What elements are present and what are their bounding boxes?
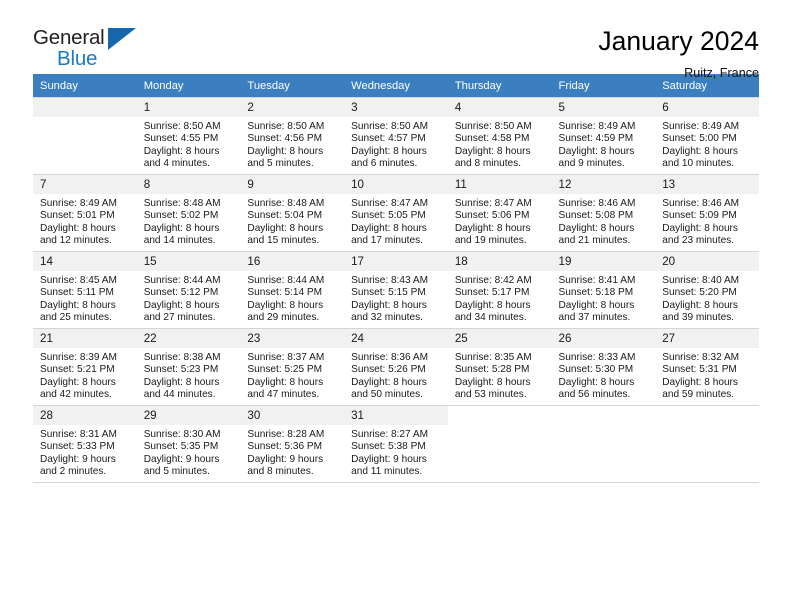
day-detail-line: Sunset: 5:15 PM <box>351 287 444 299</box>
day-detail-line: Daylight: 8 hours <box>351 223 444 235</box>
day-detail-line: Sunrise: 8:41 AM <box>559 275 652 287</box>
calendar-empty-cell <box>448 406 552 483</box>
day-number: 21 <box>33 329 137 348</box>
day-cell-inner: 10Sunrise: 8:47 AMSunset: 5:05 PMDayligh… <box>344 175 448 251</box>
day-details: Sunrise: 8:40 AMSunset: 5:20 PMDaylight:… <box>655 271 759 324</box>
day-cell-inner: 9Sunrise: 8:48 AMSunset: 5:04 PMDaylight… <box>240 175 344 251</box>
day-number: 23 <box>240 329 344 348</box>
day-cell-inner: 26Sunrise: 8:33 AMSunset: 5:30 PMDayligh… <box>552 329 656 405</box>
day-detail-line: Sunrise: 8:37 AM <box>247 352 340 364</box>
day-detail-line: Sunrise: 8:36 AM <box>351 352 444 364</box>
day-detail-line: and 8 minutes. <box>455 158 548 170</box>
day-detail-line: and 47 minutes. <box>247 389 340 401</box>
day-detail-line: Sunset: 4:55 PM <box>144 133 237 145</box>
title-block: January 2024 Ruitz, France <box>598 26 759 80</box>
day-cell-inner: 11Sunrise: 8:47 AMSunset: 5:06 PMDayligh… <box>448 175 552 251</box>
day-detail-line: and 2 minutes. <box>40 466 133 478</box>
calendar-day-cell[interactable]: 10Sunrise: 8:47 AMSunset: 5:05 PMDayligh… <box>344 175 448 252</box>
day-detail-line: Sunset: 5:18 PM <box>559 287 652 299</box>
day-number: 16 <box>240 252 344 271</box>
day-detail-line: Sunrise: 8:33 AM <box>559 352 652 364</box>
day-detail-line: Sunrise: 8:50 AM <box>455 121 548 133</box>
day-detail-line: Daylight: 8 hours <box>247 300 340 312</box>
day-number: 27 <box>655 329 759 348</box>
calendar-day-cell[interactable]: 18Sunrise: 8:42 AMSunset: 5:17 PMDayligh… <box>448 252 552 329</box>
day-details: Sunrise: 8:48 AMSunset: 5:02 PMDaylight:… <box>137 194 241 247</box>
day-number: 17 <box>344 252 448 271</box>
day-cell-inner: 23Sunrise: 8:37 AMSunset: 5:25 PMDayligh… <box>240 329 344 405</box>
day-detail-line: Daylight: 8 hours <box>351 377 444 389</box>
day-details: Sunrise: 8:30 AMSunset: 5:35 PMDaylight:… <box>137 425 241 478</box>
day-detail-line: and 44 minutes. <box>144 389 237 401</box>
day-detail-line: Daylight: 9 hours <box>351 454 444 466</box>
day-detail-line: Daylight: 8 hours <box>40 223 133 235</box>
day-number <box>33 98 137 117</box>
calendar-day-cell[interactable]: 12Sunrise: 8:46 AMSunset: 5:08 PMDayligh… <box>552 175 656 252</box>
weekday-header-wednesday: Wednesday <box>344 74 448 98</box>
day-details: Sunrise: 8:32 AMSunset: 5:31 PMDaylight:… <box>655 348 759 401</box>
day-number: 3 <box>344 98 448 117</box>
day-detail-line: and 8 minutes. <box>247 466 340 478</box>
calendar-week-row: 21Sunrise: 8:39 AMSunset: 5:21 PMDayligh… <box>33 329 759 406</box>
day-number: 31 <box>344 406 448 425</box>
day-detail-line: and 4 minutes. <box>144 158 237 170</box>
day-detail-line: Sunset: 5:00 PM <box>662 133 755 145</box>
day-detail-line: Sunset: 5:33 PM <box>40 441 133 453</box>
day-details: Sunrise: 8:27 AMSunset: 5:38 PMDaylight:… <box>344 425 448 478</box>
day-detail-line: Sunrise: 8:46 AM <box>662 198 755 210</box>
day-detail-line: Daylight: 8 hours <box>455 377 548 389</box>
day-detail-line: Daylight: 8 hours <box>455 223 548 235</box>
day-detail-line: Sunset: 5:11 PM <box>40 287 133 299</box>
day-detail-line: Daylight: 8 hours <box>559 377 652 389</box>
day-detail-line: and 5 minutes. <box>247 158 340 170</box>
day-details: Sunrise: 8:45 AMSunset: 5:11 PMDaylight:… <box>33 271 137 324</box>
day-detail-line: Sunset: 5:17 PM <box>455 287 548 299</box>
day-detail-line: Daylight: 8 hours <box>559 146 652 158</box>
day-detail-line: and 25 minutes. <box>40 312 133 324</box>
day-detail-line: Daylight: 8 hours <box>144 377 237 389</box>
day-detail-line: Sunset: 5:01 PM <box>40 210 133 222</box>
day-details: Sunrise: 8:44 AMSunset: 5:12 PMDaylight:… <box>137 271 241 324</box>
day-cell-inner: 5Sunrise: 8:49 AMSunset: 4:59 PMDaylight… <box>552 98 656 174</box>
day-detail-line: Sunrise: 8:32 AM <box>662 352 755 364</box>
day-cell-inner: 31Sunrise: 8:27 AMSunset: 5:38 PMDayligh… <box>344 406 448 482</box>
day-detail-line: and 37 minutes. <box>559 312 652 324</box>
day-details: Sunrise: 8:46 AMSunset: 5:08 PMDaylight:… <box>552 194 656 247</box>
day-detail-line: Daylight: 8 hours <box>351 300 444 312</box>
calendar-week-row: 28Sunrise: 8:31 AMSunset: 5:33 PMDayligh… <box>33 406 759 483</box>
day-cell-inner: 16Sunrise: 8:44 AMSunset: 5:14 PMDayligh… <box>240 252 344 328</box>
day-details: Sunrise: 8:41 AMSunset: 5:18 PMDaylight:… <box>552 271 656 324</box>
day-detail-line: Sunrise: 8:43 AM <box>351 275 444 287</box>
calendar-week-row: 1Sunrise: 8:50 AMSunset: 4:55 PMDaylight… <box>33 98 759 175</box>
day-detail-line: Sunset: 5:25 PM <box>247 364 340 376</box>
day-detail-line: Daylight: 8 hours <box>40 300 133 312</box>
day-detail-line: Sunrise: 8:38 AM <box>144 352 237 364</box>
calendar-day-cell[interactable]: 31Sunrise: 8:27 AMSunset: 5:38 PMDayligh… <box>344 406 448 483</box>
calendar-week-row: 14Sunrise: 8:45 AMSunset: 5:11 PMDayligh… <box>33 252 759 329</box>
day-detail-line: Sunset: 5:36 PM <box>247 441 340 453</box>
day-cell-inner: 7Sunrise: 8:49 AMSunset: 5:01 PMDaylight… <box>33 175 137 251</box>
day-detail-line: Daylight: 8 hours <box>40 377 133 389</box>
day-cell-inner: 20Sunrise: 8:40 AMSunset: 5:20 PMDayligh… <box>655 252 759 328</box>
day-number: 25 <box>448 329 552 348</box>
day-detail-line: Daylight: 8 hours <box>559 300 652 312</box>
calendar-day-cell[interactable]: 1Sunrise: 8:50 AMSunset: 4:55 PMDaylight… <box>137 98 241 175</box>
day-detail-line: Daylight: 8 hours <box>144 300 237 312</box>
day-details: Sunrise: 8:50 AMSunset: 4:56 PMDaylight:… <box>240 117 344 170</box>
day-cell-inner: 29Sunrise: 8:30 AMSunset: 5:35 PMDayligh… <box>137 406 241 482</box>
day-cell-inner <box>33 98 137 174</box>
day-detail-line: Sunrise: 8:46 AM <box>559 198 652 210</box>
calendar-day-cell[interactable]: 6Sunrise: 8:49 AMSunset: 5:00 PMDaylight… <box>655 98 759 175</box>
day-detail-line: Sunset: 5:31 PM <box>662 364 755 376</box>
day-details: Sunrise: 8:49 AMSunset: 4:59 PMDaylight:… <box>552 117 656 170</box>
day-details: Sunrise: 8:28 AMSunset: 5:36 PMDaylight:… <box>240 425 344 478</box>
day-detail-line: and 39 minutes. <box>662 312 755 324</box>
day-detail-line: Sunrise: 8:48 AM <box>247 198 340 210</box>
day-detail-line: Sunrise: 8:28 AM <box>247 429 340 441</box>
calendar-day-cell[interactable]: 3Sunrise: 8:50 AMSunset: 4:57 PMDaylight… <box>344 98 448 175</box>
day-number: 13 <box>655 175 759 194</box>
day-number: 4 <box>448 98 552 117</box>
day-detail-line: Daylight: 8 hours <box>662 223 755 235</box>
day-cell-inner: 28Sunrise: 8:31 AMSunset: 5:33 PMDayligh… <box>33 406 137 482</box>
calendar-day-cell[interactable]: 26Sunrise: 8:33 AMSunset: 5:30 PMDayligh… <box>552 329 656 406</box>
day-detail-line: and 6 minutes. <box>351 158 444 170</box>
day-details: Sunrise: 8:47 AMSunset: 5:05 PMDaylight:… <box>344 194 448 247</box>
day-detail-line: Sunset: 4:58 PM <box>455 133 548 145</box>
calendar-day-cell[interactable]: 22Sunrise: 8:38 AMSunset: 5:23 PMDayligh… <box>137 329 241 406</box>
day-detail-line: Sunrise: 8:47 AM <box>455 198 548 210</box>
day-detail-line: Daylight: 8 hours <box>351 146 444 158</box>
day-details: Sunrise: 8:50 AMSunset: 4:55 PMDaylight:… <box>137 117 241 170</box>
day-cell-inner: 2Sunrise: 8:50 AMSunset: 4:56 PMDaylight… <box>240 98 344 174</box>
day-detail-line: Daylight: 8 hours <box>247 146 340 158</box>
day-details: Sunrise: 8:49 AMSunset: 5:01 PMDaylight:… <box>33 194 137 247</box>
day-detail-line: Sunset: 5:02 PM <box>144 210 237 222</box>
day-detail-line: and 56 minutes. <box>559 389 652 401</box>
day-detail-line: and 53 minutes. <box>455 389 548 401</box>
day-detail-line: Sunrise: 8:49 AM <box>662 121 755 133</box>
day-number: 22 <box>137 329 241 348</box>
day-detail-line: Daylight: 8 hours <box>247 377 340 389</box>
day-number: 19 <box>552 252 656 271</box>
day-detail-line: and 21 minutes. <box>559 235 652 247</box>
day-details: Sunrise: 8:44 AMSunset: 5:14 PMDaylight:… <box>240 271 344 324</box>
day-detail-line: Sunrise: 8:35 AM <box>455 352 548 364</box>
day-detail-line: Sunset: 5:09 PM <box>662 210 755 222</box>
day-cell-inner: 13Sunrise: 8:46 AMSunset: 5:09 PMDayligh… <box>655 175 759 251</box>
day-details: Sunrise: 8:49 AMSunset: 5:00 PMDaylight:… <box>655 117 759 170</box>
day-details: Sunrise: 8:35 AMSunset: 5:28 PMDaylight:… <box>448 348 552 401</box>
calendar-day-cell[interactable]: 27Sunrise: 8:32 AMSunset: 5:31 PMDayligh… <box>655 329 759 406</box>
calendar-day-cell[interactable]: 15Sunrise: 8:44 AMSunset: 5:12 PMDayligh… <box>137 252 241 329</box>
day-detail-line: and 9 minutes. <box>559 158 652 170</box>
calendar-day-cell[interactable]: 30Sunrise: 8:28 AMSunset: 5:36 PMDayligh… <box>240 406 344 483</box>
calendar-day-cell[interactable]: 14Sunrise: 8:45 AMSunset: 5:11 PMDayligh… <box>33 252 137 329</box>
calendar-empty-cell <box>655 406 759 483</box>
day-cell-inner: 1Sunrise: 8:50 AMSunset: 4:55 PMDaylight… <box>137 98 241 174</box>
calendar-day-cell[interactable]: 9Sunrise: 8:48 AMSunset: 5:04 PMDaylight… <box>240 175 344 252</box>
calendar-day-cell[interactable]: 11Sunrise: 8:47 AMSunset: 5:06 PMDayligh… <box>448 175 552 252</box>
day-detail-line: and 27 minutes. <box>144 312 237 324</box>
day-detail-line: Daylight: 9 hours <box>247 454 340 466</box>
day-detail-line: Daylight: 8 hours <box>662 300 755 312</box>
day-cell-inner <box>448 406 552 482</box>
day-detail-line: Sunrise: 8:50 AM <box>144 121 237 133</box>
day-detail-line: and 11 minutes. <box>351 466 444 478</box>
day-detail-line: and 5 minutes. <box>144 466 237 478</box>
day-detail-line: Sunset: 5:21 PM <box>40 364 133 376</box>
day-number: 9 <box>240 175 344 194</box>
day-number: 14 <box>33 252 137 271</box>
day-detail-line: and 15 minutes. <box>247 235 340 247</box>
day-number: 7 <box>33 175 137 194</box>
calendar-day-cell[interactable]: 29Sunrise: 8:30 AMSunset: 5:35 PMDayligh… <box>137 406 241 483</box>
calendar-day-cell[interactable]: 4Sunrise: 8:50 AMSunset: 4:58 PMDaylight… <box>448 98 552 175</box>
day-detail-line: Sunset: 5:30 PM <box>559 364 652 376</box>
day-detail-line: Daylight: 8 hours <box>455 146 548 158</box>
day-cell-inner: 8Sunrise: 8:48 AMSunset: 5:02 PMDaylight… <box>137 175 241 251</box>
logo-text-blue: Blue <box>57 47 97 71</box>
day-detail-line: Sunrise: 8:47 AM <box>351 198 444 210</box>
day-number <box>448 406 552 425</box>
day-details: Sunrise: 8:31 AMSunset: 5:33 PMDaylight:… <box>33 425 137 478</box>
calendar-day-cell[interactable]: 28Sunrise: 8:31 AMSunset: 5:33 PMDayligh… <box>33 406 137 483</box>
day-number: 18 <box>448 252 552 271</box>
calendar-day-cell[interactable]: 20Sunrise: 8:40 AMSunset: 5:20 PMDayligh… <box>655 252 759 329</box>
day-number: 11 <box>448 175 552 194</box>
day-cell-inner: 17Sunrise: 8:43 AMSunset: 5:15 PMDayligh… <box>344 252 448 328</box>
calendar-empty-cell <box>33 98 137 175</box>
day-cell-inner: 14Sunrise: 8:45 AMSunset: 5:11 PMDayligh… <box>33 252 137 328</box>
day-detail-line: Sunrise: 8:44 AM <box>144 275 237 287</box>
calendar-week-row: 7Sunrise: 8:49 AMSunset: 5:01 PMDaylight… <box>33 175 759 252</box>
day-detail-line: and 12 minutes. <box>40 235 133 247</box>
day-cell-inner: 15Sunrise: 8:44 AMSunset: 5:12 PMDayligh… <box>137 252 241 328</box>
weekday-header-monday: Monday <box>137 74 241 98</box>
weekday-header-sunday: Sunday <box>33 74 137 98</box>
page-header: General Blue January 2024 Ruitz, France <box>33 0 759 72</box>
day-detail-line: Sunrise: 8:44 AM <box>247 275 340 287</box>
weekday-header-thursday: Thursday <box>448 74 552 98</box>
day-number: 15 <box>137 252 241 271</box>
day-cell-inner: 6Sunrise: 8:49 AMSunset: 5:00 PMDaylight… <box>655 98 759 174</box>
day-detail-line: and 34 minutes. <box>455 312 548 324</box>
day-cell-inner: 21Sunrise: 8:39 AMSunset: 5:21 PMDayligh… <box>33 329 137 405</box>
day-detail-line: Sunset: 4:59 PM <box>559 133 652 145</box>
day-cell-inner: 24Sunrise: 8:36 AMSunset: 5:26 PMDayligh… <box>344 329 448 405</box>
day-details: Sunrise: 8:46 AMSunset: 5:09 PMDaylight:… <box>655 194 759 247</box>
day-details: Sunrise: 8:38 AMSunset: 5:23 PMDaylight:… <box>137 348 241 401</box>
day-number <box>552 406 656 425</box>
day-detail-line: and 10 minutes. <box>662 158 755 170</box>
day-detail-line: Daylight: 8 hours <box>662 377 755 389</box>
day-number: 5 <box>552 98 656 117</box>
day-detail-line: Sunrise: 8:45 AM <box>40 275 133 287</box>
day-cell-inner <box>552 406 656 482</box>
day-detail-line: Sunrise: 8:49 AM <box>40 198 133 210</box>
day-number: 8 <box>137 175 241 194</box>
day-detail-line: and 29 minutes. <box>247 312 340 324</box>
day-detail-line: Sunrise: 8:42 AM <box>455 275 548 287</box>
day-detail-line: Daylight: 8 hours <box>144 223 237 235</box>
day-detail-line: Daylight: 9 hours <box>144 454 237 466</box>
day-cell-inner: 19Sunrise: 8:41 AMSunset: 5:18 PMDayligh… <box>552 252 656 328</box>
day-detail-line: Sunset: 5:38 PM <box>351 441 444 453</box>
day-detail-line: Sunset: 5:28 PM <box>455 364 548 376</box>
day-details: Sunrise: 8:48 AMSunset: 5:04 PMDaylight:… <box>240 194 344 247</box>
calendar-day-cell[interactable]: 23Sunrise: 8:37 AMSunset: 5:25 PMDayligh… <box>240 329 344 406</box>
day-detail-line: Sunrise: 8:50 AM <box>351 121 444 133</box>
day-number: 20 <box>655 252 759 271</box>
day-detail-line: and 42 minutes. <box>40 389 133 401</box>
day-number: 28 <box>33 406 137 425</box>
day-cell-inner: 30Sunrise: 8:28 AMSunset: 5:36 PMDayligh… <box>240 406 344 482</box>
triangle-logo-icon <box>108 28 136 50</box>
day-number: 29 <box>137 406 241 425</box>
day-detail-line: Sunset: 5:23 PM <box>144 364 237 376</box>
calendar-day-cell[interactable]: 25Sunrise: 8:35 AMSunset: 5:28 PMDayligh… <box>448 329 552 406</box>
day-detail-line: Daylight: 8 hours <box>144 146 237 158</box>
day-details: Sunrise: 8:37 AMSunset: 5:25 PMDaylight:… <box>240 348 344 401</box>
day-number: 1 <box>137 98 241 117</box>
day-details: Sunrise: 8:33 AMSunset: 5:30 PMDaylight:… <box>552 348 656 401</box>
day-detail-line: Sunrise: 8:48 AM <box>144 198 237 210</box>
calendar-day-cell[interactable]: 19Sunrise: 8:41 AMSunset: 5:18 PMDayligh… <box>552 252 656 329</box>
calendar-table: SundayMondayTuesdayWednesdayThursdayFrid… <box>33 74 759 483</box>
day-cell-inner: 12Sunrise: 8:46 AMSunset: 5:08 PMDayligh… <box>552 175 656 251</box>
day-detail-line: Sunset: 4:57 PM <box>351 133 444 145</box>
day-detail-line: Sunset: 5:06 PM <box>455 210 548 222</box>
calendar-page: General Blue January 2024 Ruitz, France … <box>0 0 792 612</box>
day-detail-line: Sunset: 5:05 PM <box>351 210 444 222</box>
day-details: Sunrise: 8:42 AMSunset: 5:17 PMDaylight:… <box>448 271 552 324</box>
calendar-day-cell[interactable]: 21Sunrise: 8:39 AMSunset: 5:21 PMDayligh… <box>33 329 137 406</box>
calendar-day-cell[interactable]: 7Sunrise: 8:49 AMSunset: 5:01 PMDaylight… <box>33 175 137 252</box>
weekday-header-tuesday: Tuesday <box>240 74 344 98</box>
calendar-day-cell[interactable]: 17Sunrise: 8:43 AMSunset: 5:15 PMDayligh… <box>344 252 448 329</box>
day-number: 26 <box>552 329 656 348</box>
calendar-day-cell[interactable]: 2Sunrise: 8:50 AMSunset: 4:56 PMDaylight… <box>240 98 344 175</box>
day-details: Sunrise: 8:47 AMSunset: 5:06 PMDaylight:… <box>448 194 552 247</box>
day-number: 6 <box>655 98 759 117</box>
day-cell-inner: 4Sunrise: 8:50 AMSunset: 4:58 PMDaylight… <box>448 98 552 174</box>
day-detail-line: Sunrise: 8:39 AM <box>40 352 133 364</box>
day-detail-line: and 17 minutes. <box>351 235 444 247</box>
day-detail-line: Sunset: 5:26 PM <box>351 364 444 376</box>
day-detail-line: and 50 minutes. <box>351 389 444 401</box>
day-cell-inner <box>655 406 759 482</box>
day-detail-line: Sunset: 5:12 PM <box>144 287 237 299</box>
day-details: Sunrise: 8:43 AMSunset: 5:15 PMDaylight:… <box>344 271 448 324</box>
day-number: 10 <box>344 175 448 194</box>
day-detail-line: Sunrise: 8:30 AM <box>144 429 237 441</box>
day-cell-inner: 22Sunrise: 8:38 AMSunset: 5:23 PMDayligh… <box>137 329 241 405</box>
day-detail-line: Daylight: 8 hours <box>455 300 548 312</box>
day-detail-line: Sunrise: 8:40 AM <box>662 275 755 287</box>
day-detail-line: and 14 minutes. <box>144 235 237 247</box>
day-detail-line: Sunset: 5:04 PM <box>247 210 340 222</box>
day-number <box>655 406 759 425</box>
day-detail-line: Daylight: 9 hours <box>40 454 133 466</box>
day-number: 24 <box>344 329 448 348</box>
day-cell-inner: 27Sunrise: 8:32 AMSunset: 5:31 PMDayligh… <box>655 329 759 405</box>
day-detail-line: Sunset: 5:08 PM <box>559 210 652 222</box>
day-number: 30 <box>240 406 344 425</box>
day-detail-line: Sunrise: 8:49 AM <box>559 121 652 133</box>
day-detail-line: and 59 minutes. <box>662 389 755 401</box>
calendar-body: 1Sunrise: 8:50 AMSunset: 4:55 PMDaylight… <box>33 98 759 483</box>
day-detail-line: and 19 minutes. <box>455 235 548 247</box>
day-details: Sunrise: 8:36 AMSunset: 5:26 PMDaylight:… <box>344 348 448 401</box>
location-subtitle: Ruitz, France <box>598 66 759 80</box>
day-number: 2 <box>240 98 344 117</box>
page-title: January 2024 <box>598 27 759 56</box>
day-details: Sunrise: 8:50 AMSunset: 4:58 PMDaylight:… <box>448 117 552 170</box>
day-detail-line: and 23 minutes. <box>662 235 755 247</box>
day-detail-line: and 32 minutes. <box>351 312 444 324</box>
day-number: 12 <box>552 175 656 194</box>
day-details: Sunrise: 8:39 AMSunset: 5:21 PMDaylight:… <box>33 348 137 401</box>
day-detail-line: Sunset: 4:56 PM <box>247 133 340 145</box>
generalblue-logo: General Blue <box>33 26 153 72</box>
calendar-day-cell[interactable]: 5Sunrise: 8:49 AMSunset: 4:59 PMDaylight… <box>552 98 656 175</box>
calendar-empty-cell <box>552 406 656 483</box>
day-detail-line: Daylight: 8 hours <box>247 223 340 235</box>
day-details: Sunrise: 8:50 AMSunset: 4:57 PMDaylight:… <box>344 117 448 170</box>
calendar-day-cell[interactable]: 8Sunrise: 8:48 AMSunset: 5:02 PMDaylight… <box>137 175 241 252</box>
day-detail-line: Sunrise: 8:27 AM <box>351 429 444 441</box>
day-cell-inner: 3Sunrise: 8:50 AMSunset: 4:57 PMDaylight… <box>344 98 448 174</box>
day-detail-line: Sunrise: 8:31 AM <box>40 429 133 441</box>
day-detail-line: Sunrise: 8:50 AM <box>247 121 340 133</box>
day-cell-inner: 18Sunrise: 8:42 AMSunset: 5:17 PMDayligh… <box>448 252 552 328</box>
calendar-day-cell[interactable]: 24Sunrise: 8:36 AMSunset: 5:26 PMDayligh… <box>344 329 448 406</box>
day-detail-line: Daylight: 8 hours <box>662 146 755 158</box>
day-detail-line: Sunset: 5:20 PM <box>662 287 755 299</box>
calendar-day-cell[interactable]: 13Sunrise: 8:46 AMSunset: 5:09 PMDayligh… <box>655 175 759 252</box>
day-detail-line: Sunset: 5:14 PM <box>247 287 340 299</box>
day-detail-line: Daylight: 8 hours <box>559 223 652 235</box>
day-detail-line: Sunset: 5:35 PM <box>144 441 237 453</box>
day-cell-inner: 25Sunrise: 8:35 AMSunset: 5:28 PMDayligh… <box>448 329 552 405</box>
calendar-day-cell[interactable]: 16Sunrise: 8:44 AMSunset: 5:14 PMDayligh… <box>240 252 344 329</box>
